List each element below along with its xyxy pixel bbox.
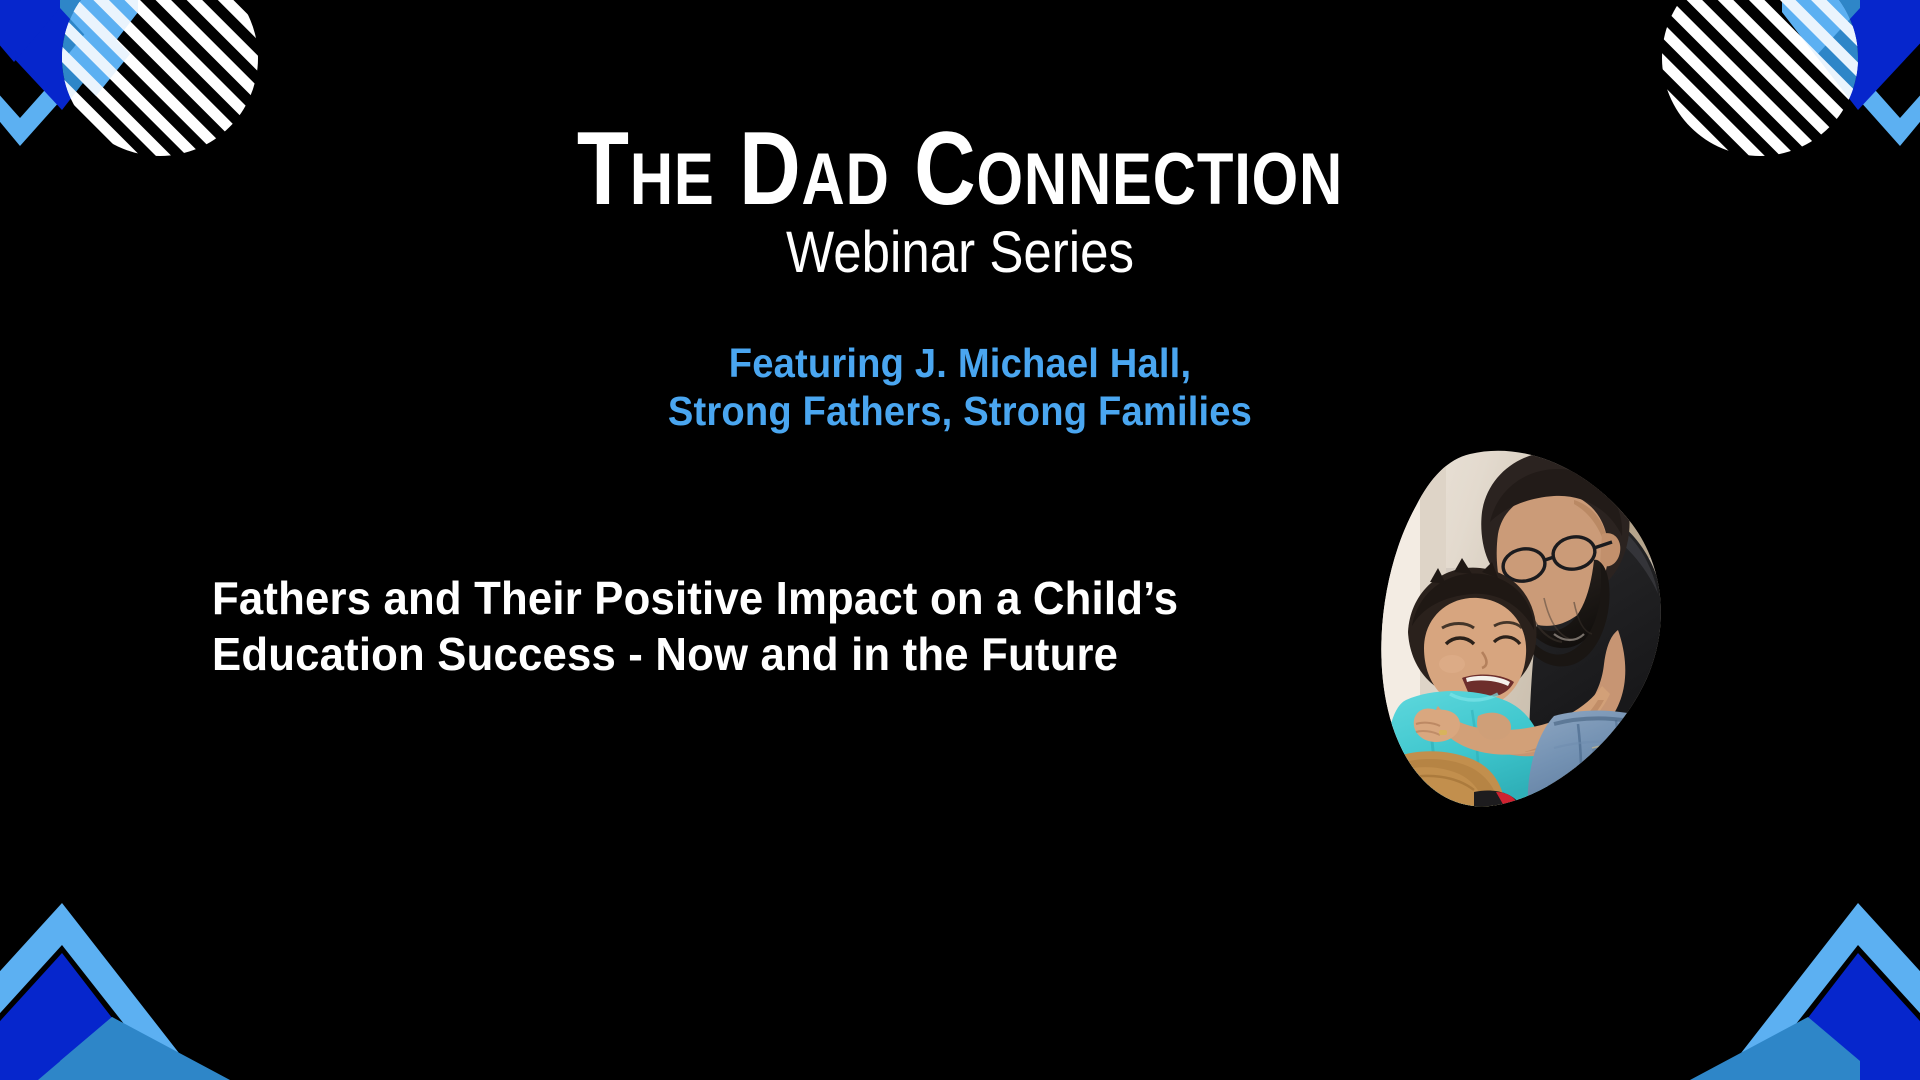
session-topic-line-1: Fathers and Their Positive Impact on a C…: [212, 570, 1314, 626]
session-topic-block: Fathers and Their Positive Impact on a C…: [212, 570, 1372, 682]
presentation-slide: The Dad Connection Webinar Series Featur…: [0, 0, 1920, 1080]
featuring-line-1: Featuring J. Michael Hall,: [67, 340, 1853, 388]
solid-chevron-tl: [0, 0, 138, 110]
father-son-photo: [1378, 448, 1670, 810]
page-subtitle: Webinar Series: [115, 224, 1805, 282]
page-title: The Dad Connection: [173, 122, 1747, 218]
featuring-line-2: Strong Fathers, Strong Families: [67, 388, 1853, 436]
title-block: The Dad Connection Webinar Series: [0, 122, 1920, 282]
decoration-bottom-right: [1610, 865, 1920, 1080]
photo-content: [1378, 448, 1670, 810]
session-topic-line-2: Education Success - Now and in the Futur…: [212, 626, 1314, 682]
decoration-bottom-left: [0, 865, 310, 1080]
solid-chevron-tr: [1782, 0, 1920, 110]
featuring-block: Featuring J. Michael Hall, Strong Father…: [0, 340, 1920, 436]
